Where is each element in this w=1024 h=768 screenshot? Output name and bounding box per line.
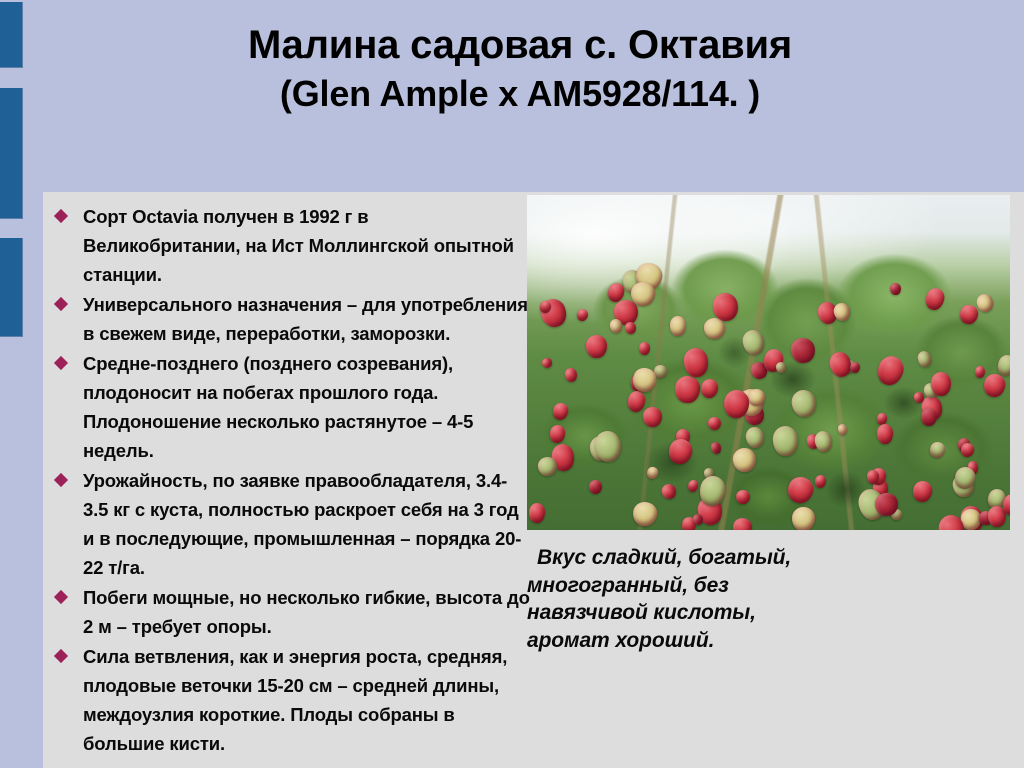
raspberry-fruit [586,335,608,358]
raspberry-fruit [791,507,815,530]
bullet-list: Сорт Octavia получен в 1992 г в Великобр… [48,202,530,759]
caption-line: аромат хороший. [527,627,1024,655]
raspberry-fruit [670,316,686,336]
bullet-text: Сила ветвления, как и энергия роста, сре… [83,642,530,758]
decorative-accent-bar-1 [0,2,23,68]
decorative-accent-bar-3 [0,238,23,337]
diamond-bullet-icon [54,356,68,370]
bullet-text: Сорт Octavia получен в 1992 г в Великобр… [83,202,530,289]
raspberry-fruit [639,342,650,355]
title-line-secondary: (Glen Ample x AM5928/114. ) [60,73,980,115]
bullet-item: Сила ветвления, как и энергия роста, сре… [48,642,530,758]
caption-line: навязчивой кислоты, [527,599,1024,627]
bullet-text: Универсального назначения – для употребл… [83,290,530,348]
bullet-item: Побеги мощные, но несколько гибкие, высо… [48,583,530,641]
raspberry-fruit [930,371,950,395]
bullet-text: Побеги мощные, но несколько гибкие, высо… [83,583,530,641]
decorative-accent-bar-2 [0,88,23,219]
diamond-bullet-icon [54,649,68,663]
bullet-text: Средне-позднего (позднего созревания), п… [83,349,530,465]
presentation-slide: Малина садовая с. Октавия (Glen Ample x … [0,0,1024,768]
bullet-item: Сорт Octavia получен в 1992 г в Великобр… [48,202,530,289]
raspberry-fruit [630,282,654,306]
bullet-item: Урожайность, по заявке правообладателя, … [48,466,530,582]
diamond-bullet-icon [54,297,68,311]
content-panel: Сорт Octavia получен в 1992 г в Великобр… [43,192,1024,768]
title-line-primary: Малина садовая с. Октавия [60,22,980,69]
raspberry-fruit [733,518,752,530]
bullet-item: Средне-позднего (позднего созревания), п… [48,349,530,465]
photo-image [527,195,1010,530]
diamond-bullet-icon [54,590,68,604]
bullet-text: Урожайность, по заявке правообладателя, … [83,466,530,582]
caption-line: многогранный, без [527,572,1024,600]
diamond-bullet-icon [54,473,68,487]
caption-line: Вкус сладкий, богатый, [527,544,1024,572]
raspberry-fruit [708,417,721,430]
diamond-bullet-icon [54,209,68,223]
slide-title: Малина садовая с. Октавия (Glen Ample x … [60,22,980,116]
photo-caption: Вкус сладкий, богатый, многогранный, без… [527,544,1024,654]
bullet-item: Универсального назначения – для употребл… [48,290,530,348]
raspberry-fruit [748,389,765,406]
raspberry-bush-photo [527,195,1010,530]
raspberry-fruit [867,469,879,483]
